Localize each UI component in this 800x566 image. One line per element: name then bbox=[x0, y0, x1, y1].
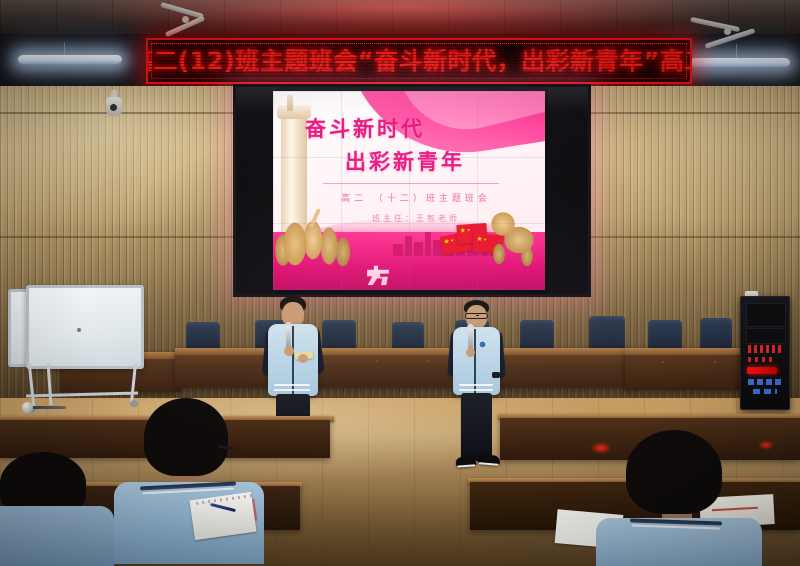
whiteboard-cross-bar bbox=[26, 392, 138, 398]
av-status-bar bbox=[747, 367, 777, 374]
whiteboard[interactable] bbox=[8, 285, 138, 420]
audience-student-left bbox=[120, 398, 250, 566]
whiteboard-magnet bbox=[77, 328, 81, 332]
student-hair bbox=[626, 430, 722, 514]
audience-student-right bbox=[600, 430, 750, 566]
presenter-right bbox=[448, 300, 506, 480]
presenter-left-hand bbox=[298, 354, 308, 363]
whiteboard-surface[interactable] bbox=[26, 285, 144, 369]
whiteboard-leg bbox=[130, 363, 137, 403]
led-banner-text: 高二(12)班主题班会“奋斗新时代，出彩新青年”高二 bbox=[146, 49, 692, 73]
presenter-left-hem-stripe bbox=[274, 384, 310, 386]
whiteboard-leg bbox=[28, 363, 36, 407]
tube-light-left-stem bbox=[64, 42, 65, 56]
ceiling-red-glow bbox=[0, 0, 800, 34]
av-button-row-1[interactable] bbox=[748, 379, 784, 385]
tube-light-left bbox=[18, 55, 122, 64]
school-badge-icon bbox=[478, 340, 487, 349]
av-equipment-rack[interactable] bbox=[740, 296, 790, 410]
presenter-right-hem-stripe bbox=[459, 389, 493, 391]
presenter-left-hem-stripe bbox=[274, 389, 310, 391]
av-slot-lower bbox=[746, 328, 786, 344]
tube-light-right bbox=[690, 58, 790, 67]
desk-row-back-center bbox=[175, 348, 630, 388]
led-video-wall: 奋斗新时代 出彩新青年 高二 （十二）班主题班会 班主任：王智老师 ★★ ★★ … bbox=[233, 84, 591, 297]
presenter-right-hand bbox=[466, 348, 475, 357]
security-camera-icon bbox=[106, 90, 122, 116]
wristwatch-icon bbox=[492, 372, 500, 378]
student-uniform bbox=[0, 506, 114, 566]
desk-row-back-right bbox=[625, 348, 753, 390]
presenter-left-hand bbox=[284, 346, 294, 356]
tube-light-right-stem bbox=[736, 44, 737, 58]
classroom-meeting-photo: 高二(12)班主题班会“奋斗新时代，出彩新青年”高二 奋斗新时代 出彩新青年 高… bbox=[0, 0, 800, 566]
av-led-row-1 bbox=[748, 345, 782, 353]
desk-red-reflection bbox=[758, 440, 774, 450]
av-button-row-2[interactable] bbox=[753, 389, 777, 394]
chair[interactable] bbox=[700, 318, 732, 352]
screen-bezel bbox=[233, 84, 591, 297]
av-slot-upper bbox=[746, 303, 786, 327]
microphone-stand[interactable] bbox=[22, 402, 66, 412]
student-hair bbox=[144, 398, 228, 476]
audience-student-far-left bbox=[0, 452, 110, 566]
presenter-right-shoe bbox=[456, 456, 477, 467]
presenter-right-shoe bbox=[478, 454, 501, 466]
presenter-right-hem-stripe bbox=[459, 384, 493, 386]
chair[interactable] bbox=[589, 316, 625, 352]
presenter-right-trousers bbox=[461, 393, 492, 461]
student-hair bbox=[0, 452, 86, 514]
led-banner: 高二(12)班主题班会“奋斗新时代，出彩新青年”高二 bbox=[146, 38, 692, 84]
av-led-row-2 bbox=[748, 357, 772, 362]
whiteboard-leg bbox=[47, 363, 53, 405]
glasses-icon bbox=[465, 313, 488, 319]
